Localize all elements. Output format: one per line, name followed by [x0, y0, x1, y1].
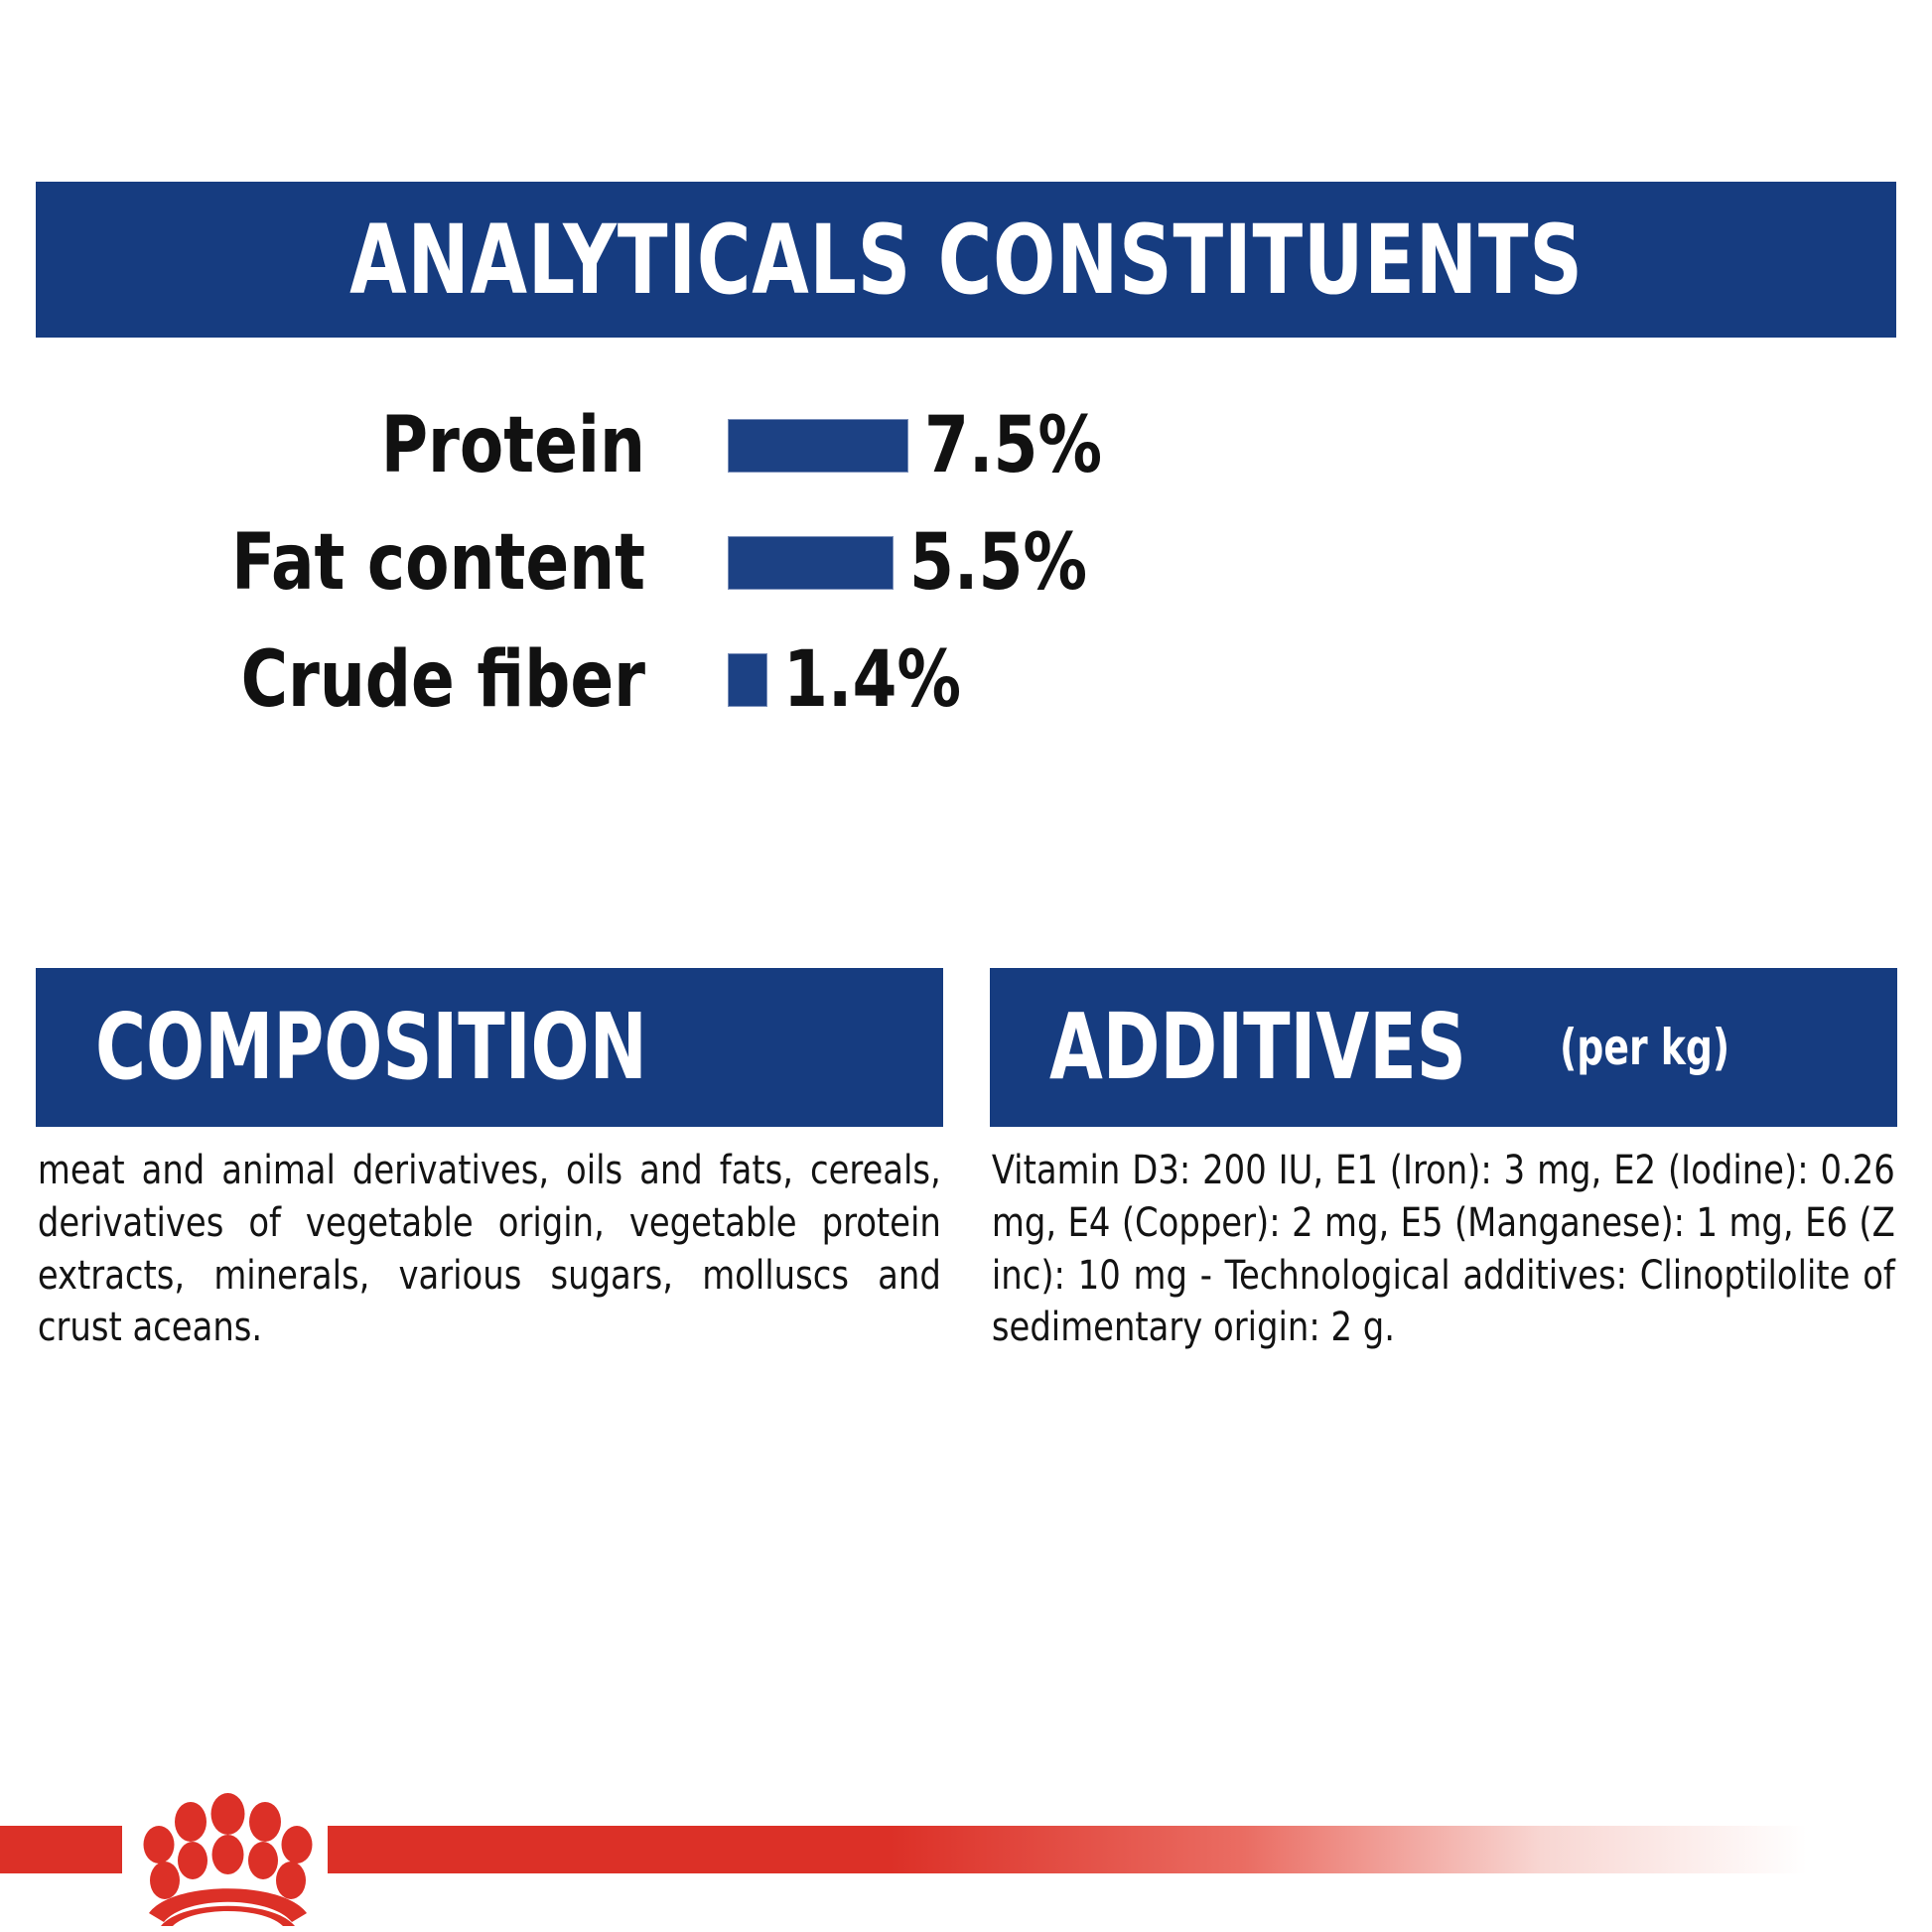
nutrient-value-crude-fiber: 1.4% — [783, 641, 961, 719]
analyticals-header-banner: ANALYTICALS CONSTITUENTS — [36, 182, 1896, 338]
analyticals-row: Crude fiber 1.4% — [0, 621, 1932, 739]
additives-subtitle-per-kg: (per kg) — [1560, 1023, 1729, 1072]
composition-body-text: meat and animal derivatives, oils and fa… — [36, 1127, 943, 1354]
additives-title: ADDITIVES — [1049, 1002, 1466, 1093]
analyticals-row: Protein 7.5% — [0, 387, 1932, 504]
panel-composition: COMPOSITION meat and animal derivatives,… — [36, 968, 943, 1354]
royal-canin-crown-logo-icon — [121, 1787, 335, 1926]
additives-body-text: Vitamin D3: 200 IU, E1 (Iron): 3 mg, E2 … — [990, 1127, 1897, 1354]
footer-red-bar-right — [328, 1826, 1807, 1873]
nutrient-value-fat-content: 5.5% — [909, 524, 1087, 602]
bar-zone-protein: 7.5% — [728, 407, 1118, 484]
info-panels: COMPOSITION meat and animal derivatives,… — [36, 968, 1896, 1354]
panel-additives: ADDITIVES (per kg) Vitamin D3: 200 IU, E… — [990, 968, 1897, 1354]
composition-header-banner: COMPOSITION — [36, 968, 943, 1127]
footer — [0, 1793, 1932, 1932]
bar-zone-crude-fiber: 1.4% — [728, 641, 977, 719]
page-title: ANALYTICALS CONSTITUENTS — [349, 212, 1584, 308]
nutrient-label-protein: Protein — [52, 407, 645, 484]
nutrient-label-fat-content: Fat content — [52, 524, 645, 602]
footer-red-bar-left — [0, 1826, 122, 1873]
composition-title: COMPOSITION — [95, 1002, 647, 1093]
nutrient-label-crude-fiber: Crude fiber — [52, 641, 645, 719]
bar-crude-fiber — [728, 653, 767, 707]
nutrition-label-page: ANALYTICALS CONSTITUENTS Protein 7.5% Fa… — [0, 0, 1932, 1932]
nutrient-value-protein: 7.5% — [924, 407, 1102, 484]
bar-fat-content — [728, 536, 894, 590]
additives-header-banner: ADDITIVES (per kg) — [990, 968, 1897, 1127]
analyticals-chart: Protein 7.5% Fat content 5.5% Crude fibe… — [0, 387, 1932, 739]
bar-protein — [728, 419, 908, 473]
analyticals-row: Fat content 5.5% — [0, 504, 1932, 621]
bar-zone-fat-content: 5.5% — [728, 524, 1103, 602]
